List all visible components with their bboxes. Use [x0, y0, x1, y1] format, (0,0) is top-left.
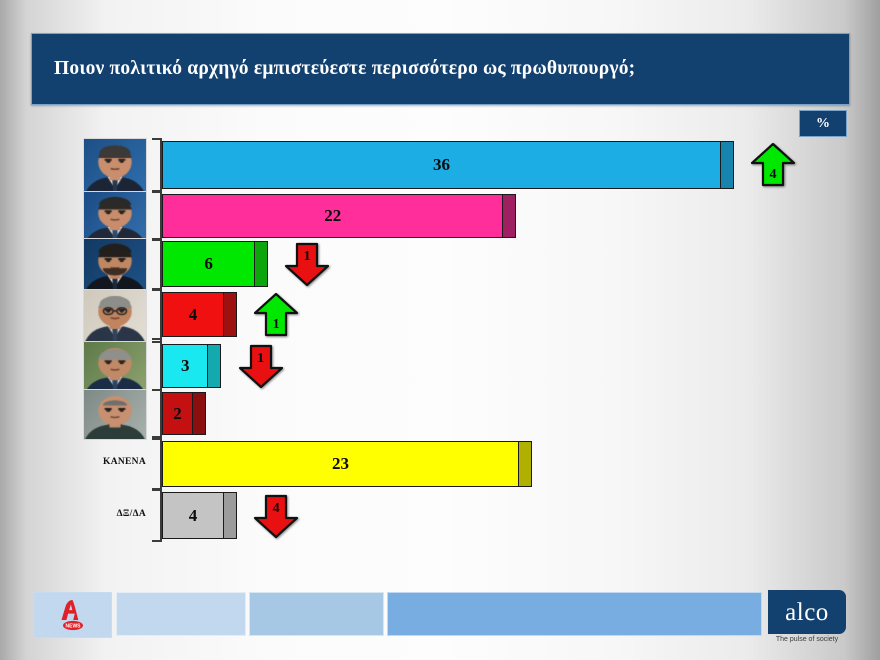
bar-value-label: 3: [175, 356, 195, 376]
alpha-news-logo: NEWS: [33, 592, 112, 638]
bar: 22: [162, 194, 518, 238]
change-value-label: 4: [252, 501, 300, 517]
candidate-photo: [83, 289, 147, 342]
candidate-photo: [83, 389, 147, 440]
candidate-photo: [83, 341, 147, 393]
bar-value-label: 36: [431, 155, 451, 175]
bar-chart: ΚΑΝΕΝΑΔΞ/ΔΑ 36226432234 41114: [0, 0, 880, 660]
bar-value-label: 23: [331, 454, 351, 474]
change-down-arrow-icon: 1: [283, 240, 331, 288]
axis-tick: [152, 341, 161, 343]
footer-segment: [116, 592, 246, 636]
bar-value-label: 4: [183, 506, 203, 526]
bar-end-cap: [502, 194, 516, 238]
bar: 2: [162, 392, 207, 435]
bar-value-label: 2: [168, 404, 188, 424]
candidate-photo: [83, 238, 147, 292]
bar-end-cap: [223, 492, 237, 539]
footer-segment: [387, 592, 762, 636]
bar-value-label: 4: [183, 305, 203, 325]
axis-tick: [152, 438, 161, 440]
axis-tick: [152, 389, 161, 391]
bar: 3: [162, 344, 223, 388]
change-up-arrow-icon: 4: [749, 141, 797, 189]
axis-tick: [152, 489, 161, 491]
axis-tick: [152, 338, 161, 340]
candidate-photo: [83, 191, 147, 243]
change-down-arrow-icon: 1: [237, 342, 285, 390]
footer: NEWS alco The pulse of society: [0, 592, 880, 640]
bar: 36: [162, 141, 735, 189]
bar-value-label: 6: [199, 254, 219, 274]
category-label: ΔΞ/ΔΑ: [68, 509, 146, 519]
bar: 6: [162, 241, 269, 287]
alco-logo: alco: [768, 590, 846, 634]
alpha-a-icon: NEWS: [56, 598, 90, 632]
alco-wordmark: alco: [785, 600, 829, 625]
bar-end-cap: [223, 292, 237, 337]
change-value-label: 1: [237, 351, 285, 367]
axis-tick: [152, 289, 161, 291]
axis-tick: [152, 540, 161, 542]
bar-end-cap: [192, 392, 206, 435]
category-label: ΚΑΝΕΝΑ: [68, 457, 146, 467]
change-value-label: 1: [252, 317, 300, 333]
news-word: NEWS: [65, 623, 81, 629]
bar: 4: [162, 492, 238, 539]
change-value-label: 4: [749, 167, 797, 183]
bar: 4: [162, 292, 238, 337]
bar-end-cap: [207, 344, 221, 388]
axis-tick: [152, 138, 161, 140]
bar: 23: [162, 441, 533, 487]
change-up-arrow-icon: 1: [252, 291, 300, 339]
alco-tagline: The pulse of society: [768, 636, 846, 643]
slide-root: Ποιον πολιτικό αρχηγό εμπιστεύεστε περισ…: [0, 0, 880, 660]
axis-tick: [152, 191, 161, 193]
axis-tick: [152, 238, 161, 240]
bar-end-cap: [518, 441, 532, 487]
footer-segment: [249, 592, 384, 636]
bar-end-cap: [254, 241, 268, 287]
change-down-arrow-icon: 4: [252, 492, 300, 540]
bar-end-cap: [720, 141, 734, 189]
candidate-photo: [83, 138, 147, 194]
change-value-label: 1: [283, 249, 331, 265]
bar-value-label: 22: [323, 206, 343, 226]
